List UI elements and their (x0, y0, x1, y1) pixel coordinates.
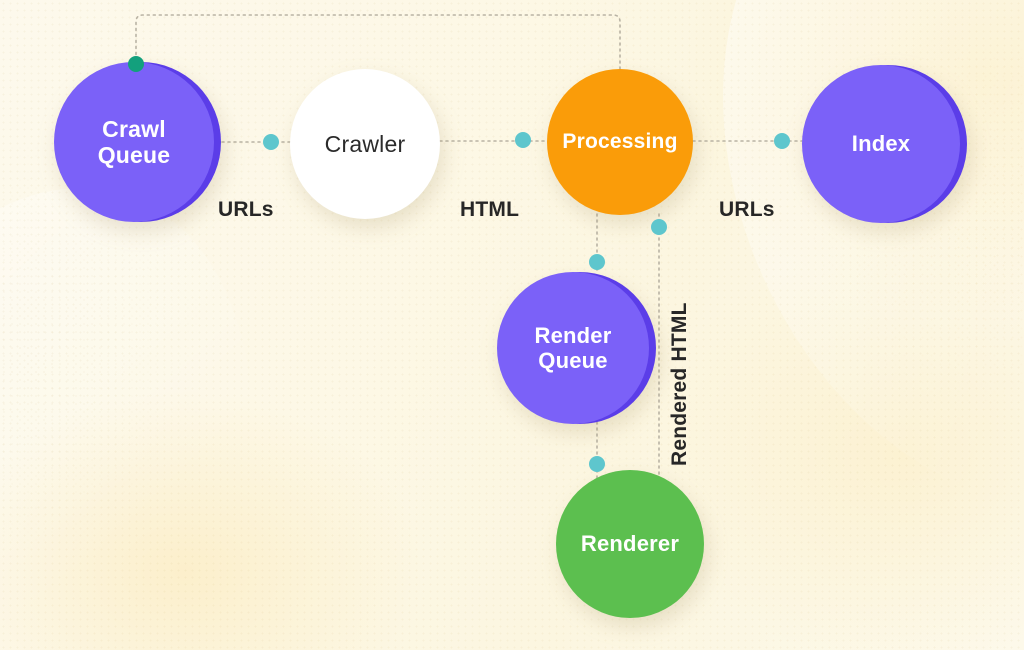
node-crawler[interactable]: Crawler (290, 69, 440, 219)
diagram-canvas: Crawl Queue Crawler Processing Index Ren… (0, 0, 1024, 650)
node-processing-label: Processing (562, 130, 677, 154)
connector-dot-index-in (774, 133, 790, 149)
node-renderer[interactable]: Renderer (556, 470, 704, 618)
node-crawl-queue-label: Crawl Queue (98, 116, 171, 168)
edge-processing-to-crawl-queue-feedback (136, 15, 620, 69)
connector-dot-render-queue-in (589, 254, 605, 270)
node-render-queue[interactable]: Render Queue (497, 272, 649, 424)
connector-dot-processing-in (515, 132, 531, 148)
connector-dot-crawl-queue-top (128, 56, 144, 72)
node-render-queue-label: Render Queue (535, 323, 612, 373)
connector-dot-renderer-in (589, 456, 605, 472)
node-renderer-label: Renderer (581, 531, 679, 556)
edge-label-rendered-html: Rendered HTML (668, 302, 692, 466)
node-crawl-queue[interactable]: Crawl Queue (54, 62, 214, 222)
edge-label-html: HTML (460, 198, 519, 222)
node-index-label: Index (852, 131, 910, 156)
edge-label-urls-crawl: URLs (218, 198, 274, 222)
connector-dot-processing-rendered-in (651, 219, 667, 235)
node-processing[interactable]: Processing (547, 69, 693, 215)
node-crawler-label: Crawler (325, 131, 406, 157)
connector-dot-crawler-in (263, 134, 279, 150)
node-index[interactable]: Index (802, 65, 960, 223)
edge-label-urls-index: URLs (719, 198, 775, 222)
